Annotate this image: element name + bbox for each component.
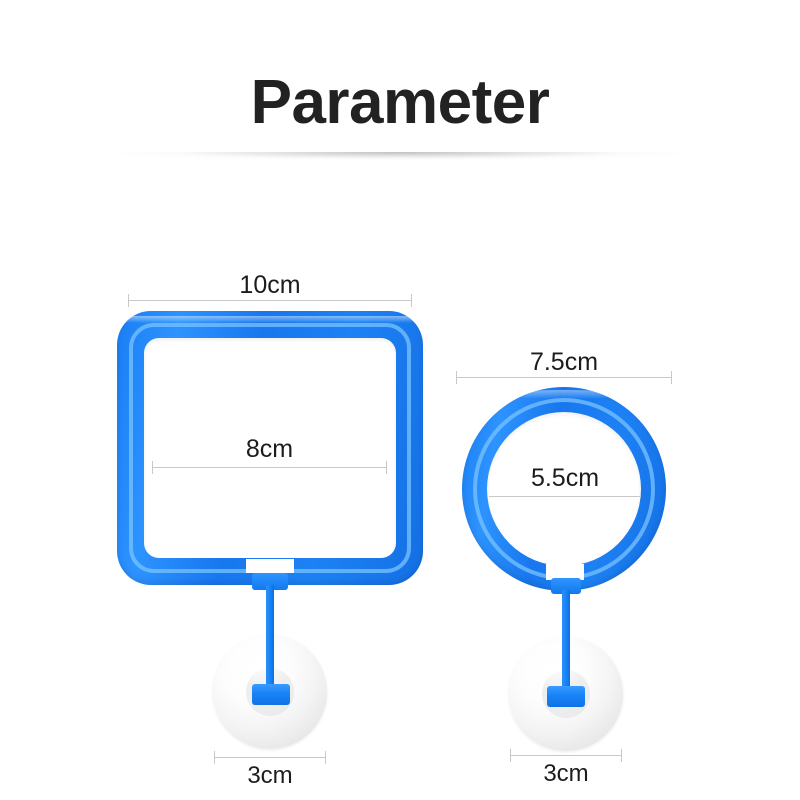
dimension-tick-right xyxy=(325,751,326,764)
circle-inner-dimension-label: 5.5cm xyxy=(489,466,641,491)
dimension-tick-left xyxy=(214,751,215,764)
square-outer-dimension-label: 10cm xyxy=(128,273,412,298)
dimension-tick-right xyxy=(621,749,622,762)
square-suction-stem xyxy=(266,585,274,693)
page-title: Parameter xyxy=(0,72,800,134)
square-clip-notch xyxy=(246,559,294,573)
square-outer-dimension-line xyxy=(128,300,412,301)
circle-inner-dimension-line xyxy=(489,496,641,497)
square-cup-dimension-line xyxy=(214,757,326,758)
circle-suction-stem xyxy=(562,590,570,694)
circle-outer-dimension-line xyxy=(456,377,672,378)
square-frame-gloss-highlight xyxy=(123,316,417,323)
header-divider xyxy=(100,152,700,161)
circle-suction-cup-plate xyxy=(547,686,585,707)
dimension-tick-right xyxy=(386,461,387,474)
dimension-tick-left xyxy=(152,461,153,474)
square-suction-cup-plate xyxy=(252,684,290,705)
square-cup-dimension-label: 3cm xyxy=(214,764,326,788)
dimension-tick-left xyxy=(510,749,511,762)
parameter-diagram-page: Parameter 10cm 8cm xyxy=(0,0,800,800)
square-inner-dimension-label: 8cm xyxy=(152,437,387,462)
circle-cup-dimension-label: 3cm xyxy=(510,762,622,786)
square-inner-dimension-line xyxy=(152,467,387,468)
circle-cup-dimension-line xyxy=(510,755,622,756)
circle-outer-dimension-label: 7.5cm xyxy=(456,350,672,375)
